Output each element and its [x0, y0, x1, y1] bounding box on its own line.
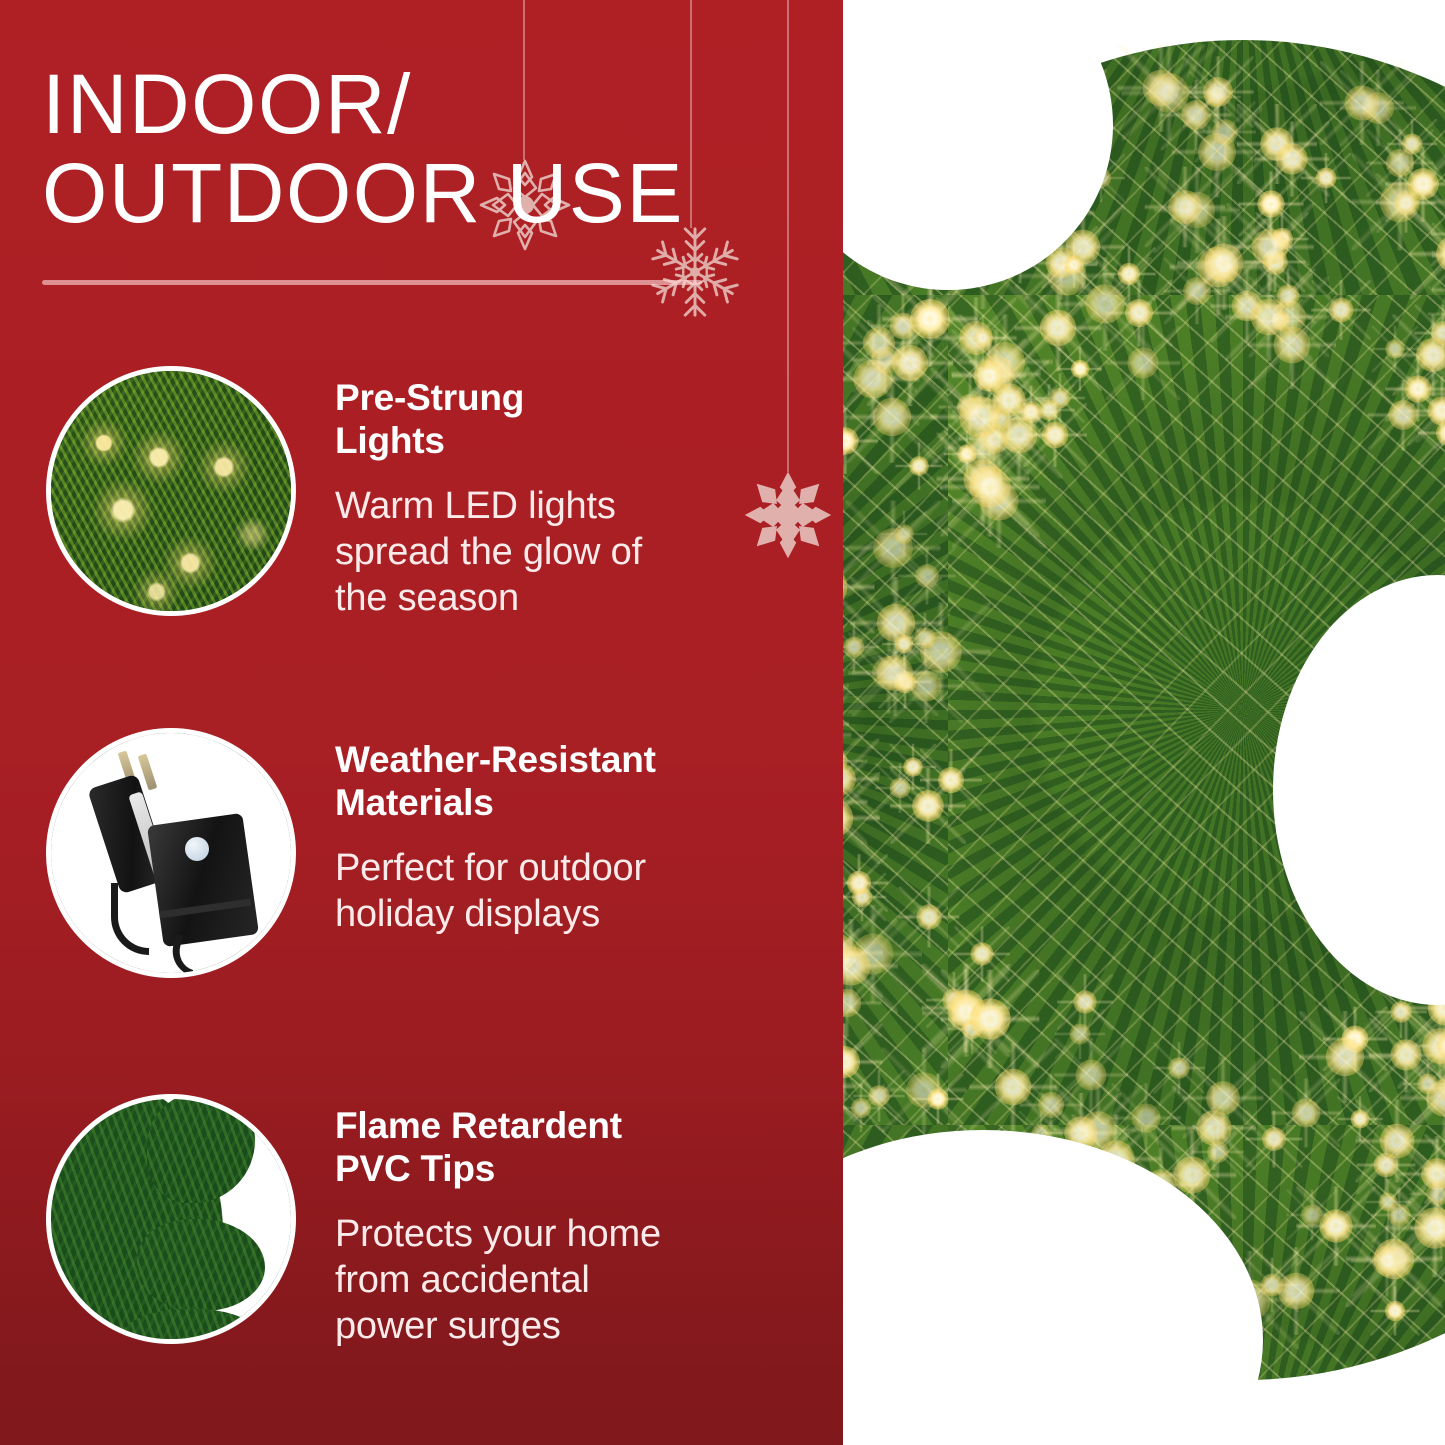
lit-pine-branches-art [51, 371, 291, 611]
adapter-indicator [185, 837, 209, 861]
feature-heading: Pre-Strung Lights [335, 376, 765, 463]
feature-heading: Flame Retardent PVC Tips [335, 1104, 765, 1191]
feature-body: Perfect for outdoor holiday displays [335, 845, 765, 938]
infographic-page: Indoor/ Outdoor Use Pre-Strung Lights Wa… [0, 0, 1445, 1445]
feature-text-block: Pre-Strung Lights Warm LED lights spread… [335, 376, 765, 622]
feature-image-power-adapter [46, 728, 296, 978]
title-divider [42, 280, 702, 285]
feature-image-pvc-tips [46, 1094, 296, 1344]
pine-bough [147, 1094, 255, 1203]
power-cord [111, 883, 149, 955]
feature-heading: Weather-Resistant Materials [335, 738, 765, 825]
feature-text-block: Weather-Resistant Materials Perfect for … [335, 738, 765, 937]
pine-bough [137, 1219, 265, 1311]
feature-body: Warm LED lights spread the glow of the s… [335, 483, 765, 622]
left-red-panel: Indoor/ Outdoor Use Pre-Strung Lights Wa… [0, 0, 843, 1445]
feature-image-lit-pine [46, 366, 296, 616]
feature-body: Protects your home from accidental power… [335, 1211, 765, 1350]
page-title: Indoor/ Outdoor Use [42, 60, 802, 238]
pvc-pine-tips-art [51, 1099, 291, 1339]
power-adapter-art [51, 733, 291, 973]
adapter-box [147, 813, 259, 947]
product-photo-wreath [843, 0, 1445, 1445]
feature-text-block: Flame Retardent PVC Tips Protects your h… [335, 1104, 765, 1350]
